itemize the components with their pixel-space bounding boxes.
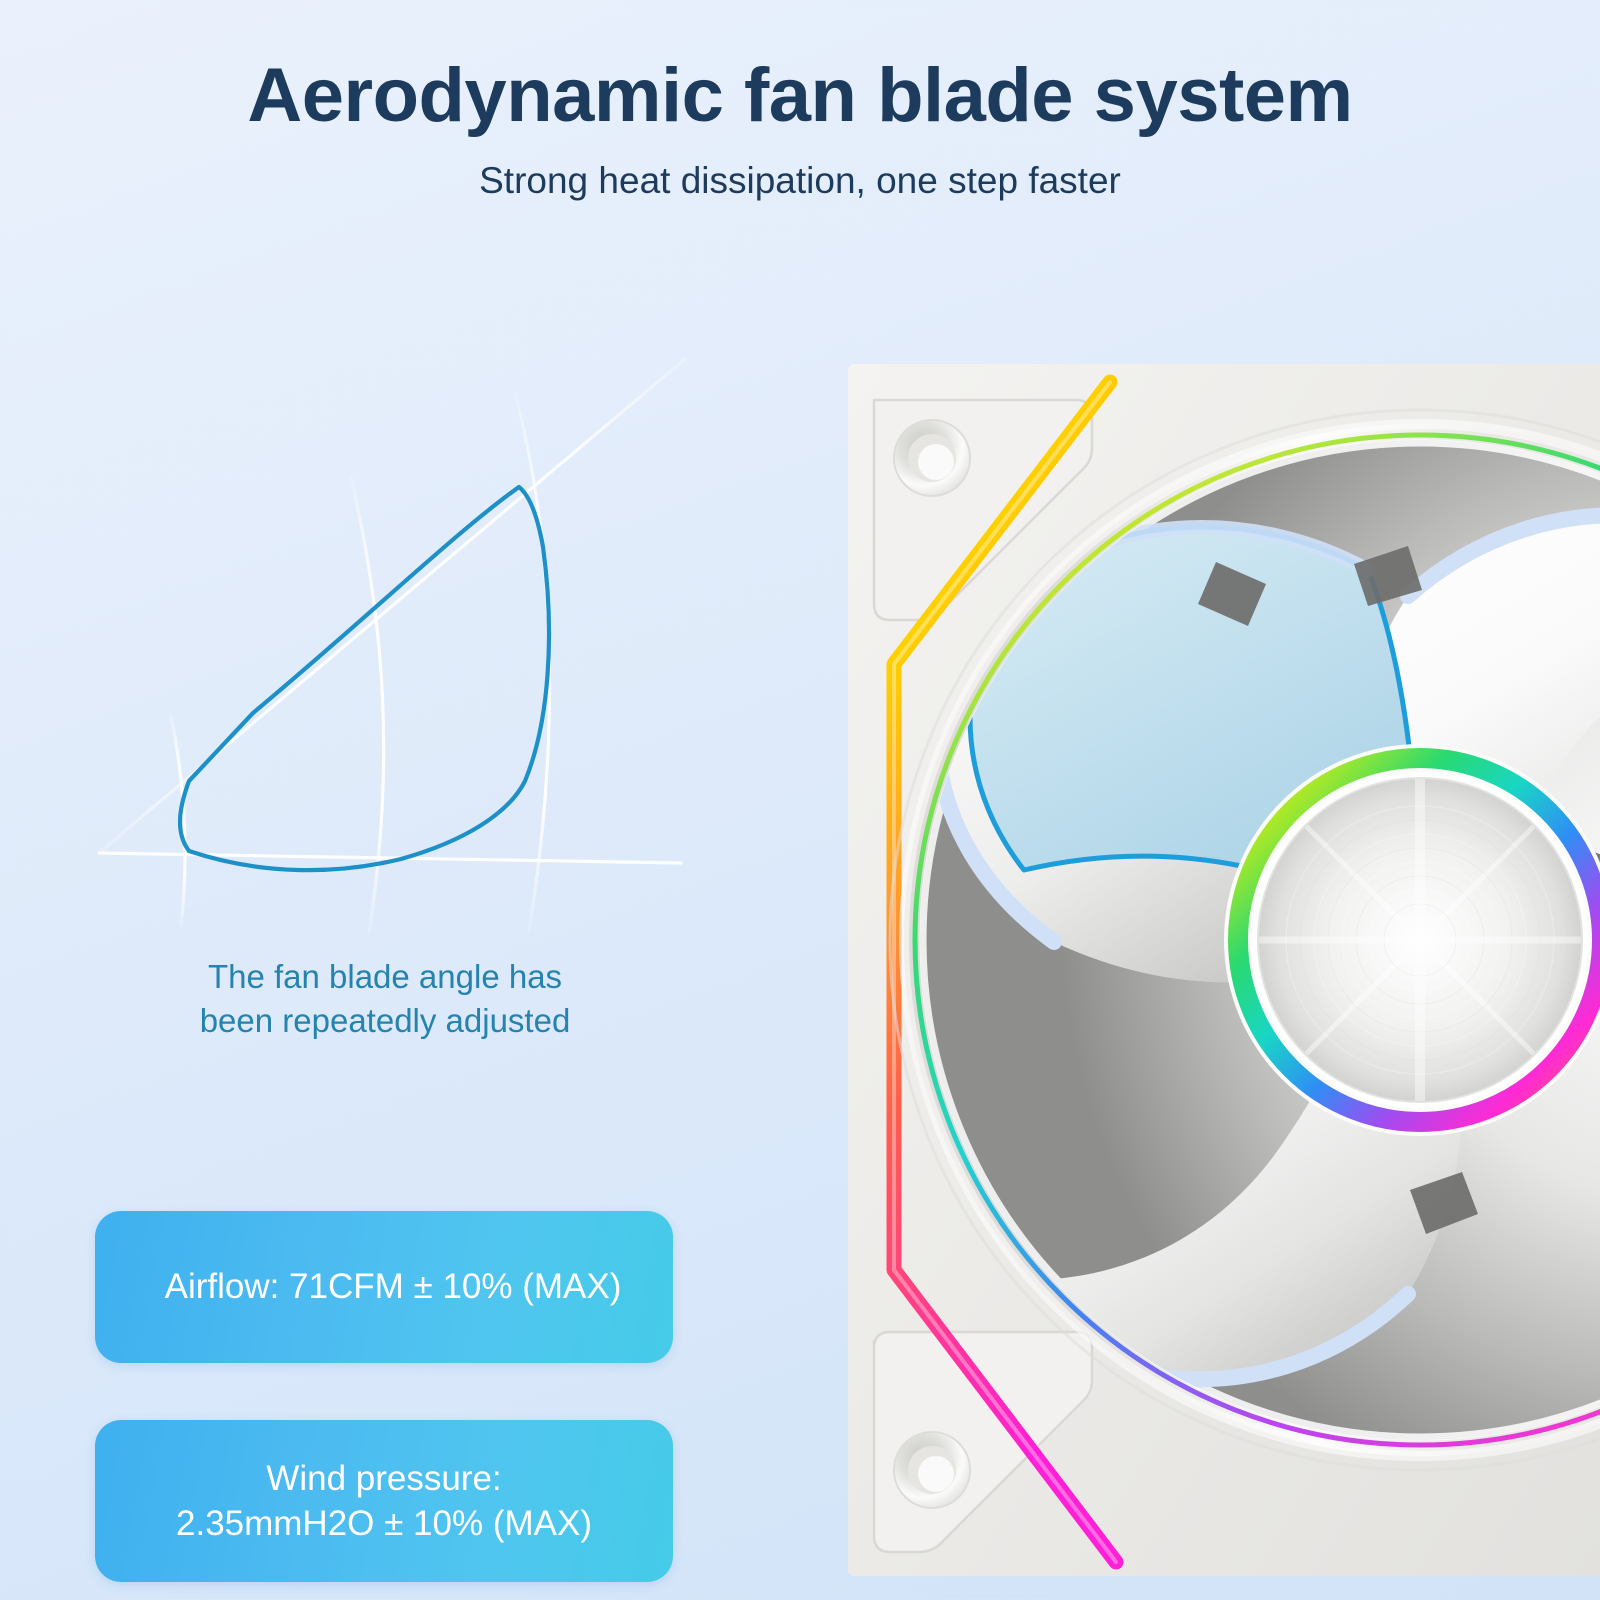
spec-badge-wind-pressure: Wind pressure: 2.35mmH2O ± 10% (MAX) (95, 1420, 673, 1582)
fan-hub (1224, 744, 1600, 1136)
blade-diagram-caption: The fan blade angle has been repeatedly … (95, 955, 675, 1042)
caption-line-2: been repeatedly adjusted (200, 1002, 571, 1039)
page-title: Aerodynamic fan blade system (0, 58, 1600, 134)
guide-arcs (171, 393, 550, 933)
fan-blade-profile-wireframe (85, 335, 695, 935)
argb-case-fan-image (848, 364, 1600, 1576)
spec-airflow-label: Airflow: 71CFM ± 10% (MAX) (147, 1264, 622, 1310)
spec-wind-pressure-line-1: Wind pressure: (266, 1459, 501, 1498)
caption-line-1: The fan blade angle has (208, 958, 562, 995)
spec-wind-pressure-line-2: 2.35mmH2O ± 10% (MAX) (176, 1504, 592, 1543)
spec-badge-airflow: Airflow: 71CFM ± 10% (MAX) (95, 1211, 673, 1363)
page-subtitle: Strong heat dissipation, one step faster (0, 160, 1600, 202)
guide-lines (99, 359, 685, 853)
spec-wind-pressure-label: Wind pressure: 2.35mmH2O ± 10% (MAX) (176, 1456, 592, 1547)
header: Aerodynamic fan blade system Strong heat… (0, 0, 1600, 230)
